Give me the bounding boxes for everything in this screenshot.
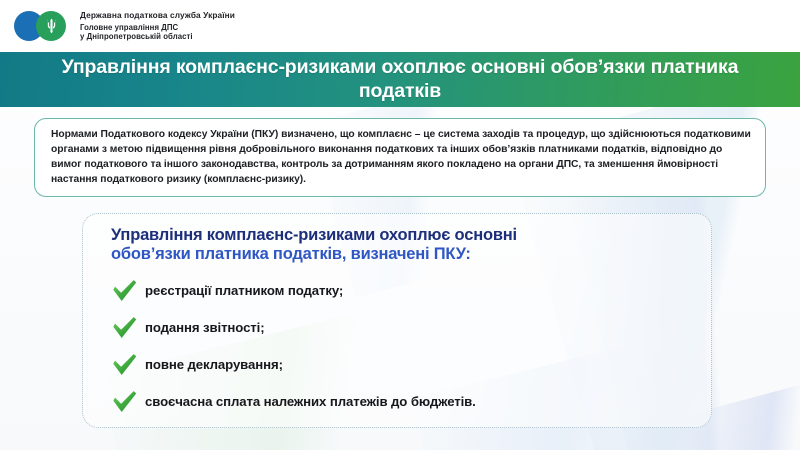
- list-item: подання звітності;: [111, 309, 697, 346]
- slide-title: Управління комплаєнс-ризиками охоплює ос…: [18, 56, 782, 104]
- definition-card: Нормами Податкового кодексу України (ПКУ…: [34, 118, 766, 197]
- obligations-heading: Управління комплаєнс-ризиками охоплює ос…: [111, 226, 697, 264]
- presentation-slide: Державна податкова служба України Головн…: [0, 0, 800, 450]
- list-item: повне декларування;: [111, 346, 697, 383]
- ukraine-trident-icon: [45, 18, 58, 34]
- slide-title-banner: Управління комплаєнс-ризиками охоплює ос…: [0, 52, 800, 107]
- definition-paragraph: Нормами Податкового кодексу України (ПКУ…: [51, 127, 753, 188]
- check-mark-icon: [111, 352, 139, 378]
- list-item-label: повне декларування;: [145, 357, 283, 372]
- logo-green-circle-icon: [36, 11, 66, 41]
- check-mark-icon: [111, 278, 139, 304]
- list-item: реєстрації платником податку;: [111, 272, 697, 309]
- slide-header: Державна податкова служба України Головн…: [0, 0, 800, 52]
- org-name-line-1: Державна податкова служба України: [80, 10, 235, 20]
- check-mark-icon: [111, 389, 139, 415]
- obligations-card: Управління комплаєнс-ризиками охоплює ос…: [82, 213, 712, 428]
- org-name-line-3: у Дніпропетровській області: [80, 32, 235, 42]
- organization-name-block: Державна податкова служба України Головн…: [80, 10, 235, 42]
- list-item-label: реєстрації платником податку;: [145, 283, 343, 298]
- dps-logo: [14, 7, 72, 45]
- check-mark-icon: [111, 315, 139, 341]
- list-item-label: своєчасна сплата належних платежів до бю…: [145, 394, 476, 409]
- org-name-line-2: Головне управління ДПС: [80, 23, 235, 33]
- list-item-label: подання звітності;: [145, 320, 265, 335]
- list-item: своєчасна сплата належних платежів до бю…: [111, 383, 697, 420]
- obligations-heading-line-1: Управління комплаєнс-ризиками охоплює ос…: [111, 226, 697, 245]
- obligations-heading-line-2: обов’язки платника податків, визначені П…: [111, 245, 697, 264]
- obligations-list: реєстрації платником податку; подання зв…: [97, 272, 697, 420]
